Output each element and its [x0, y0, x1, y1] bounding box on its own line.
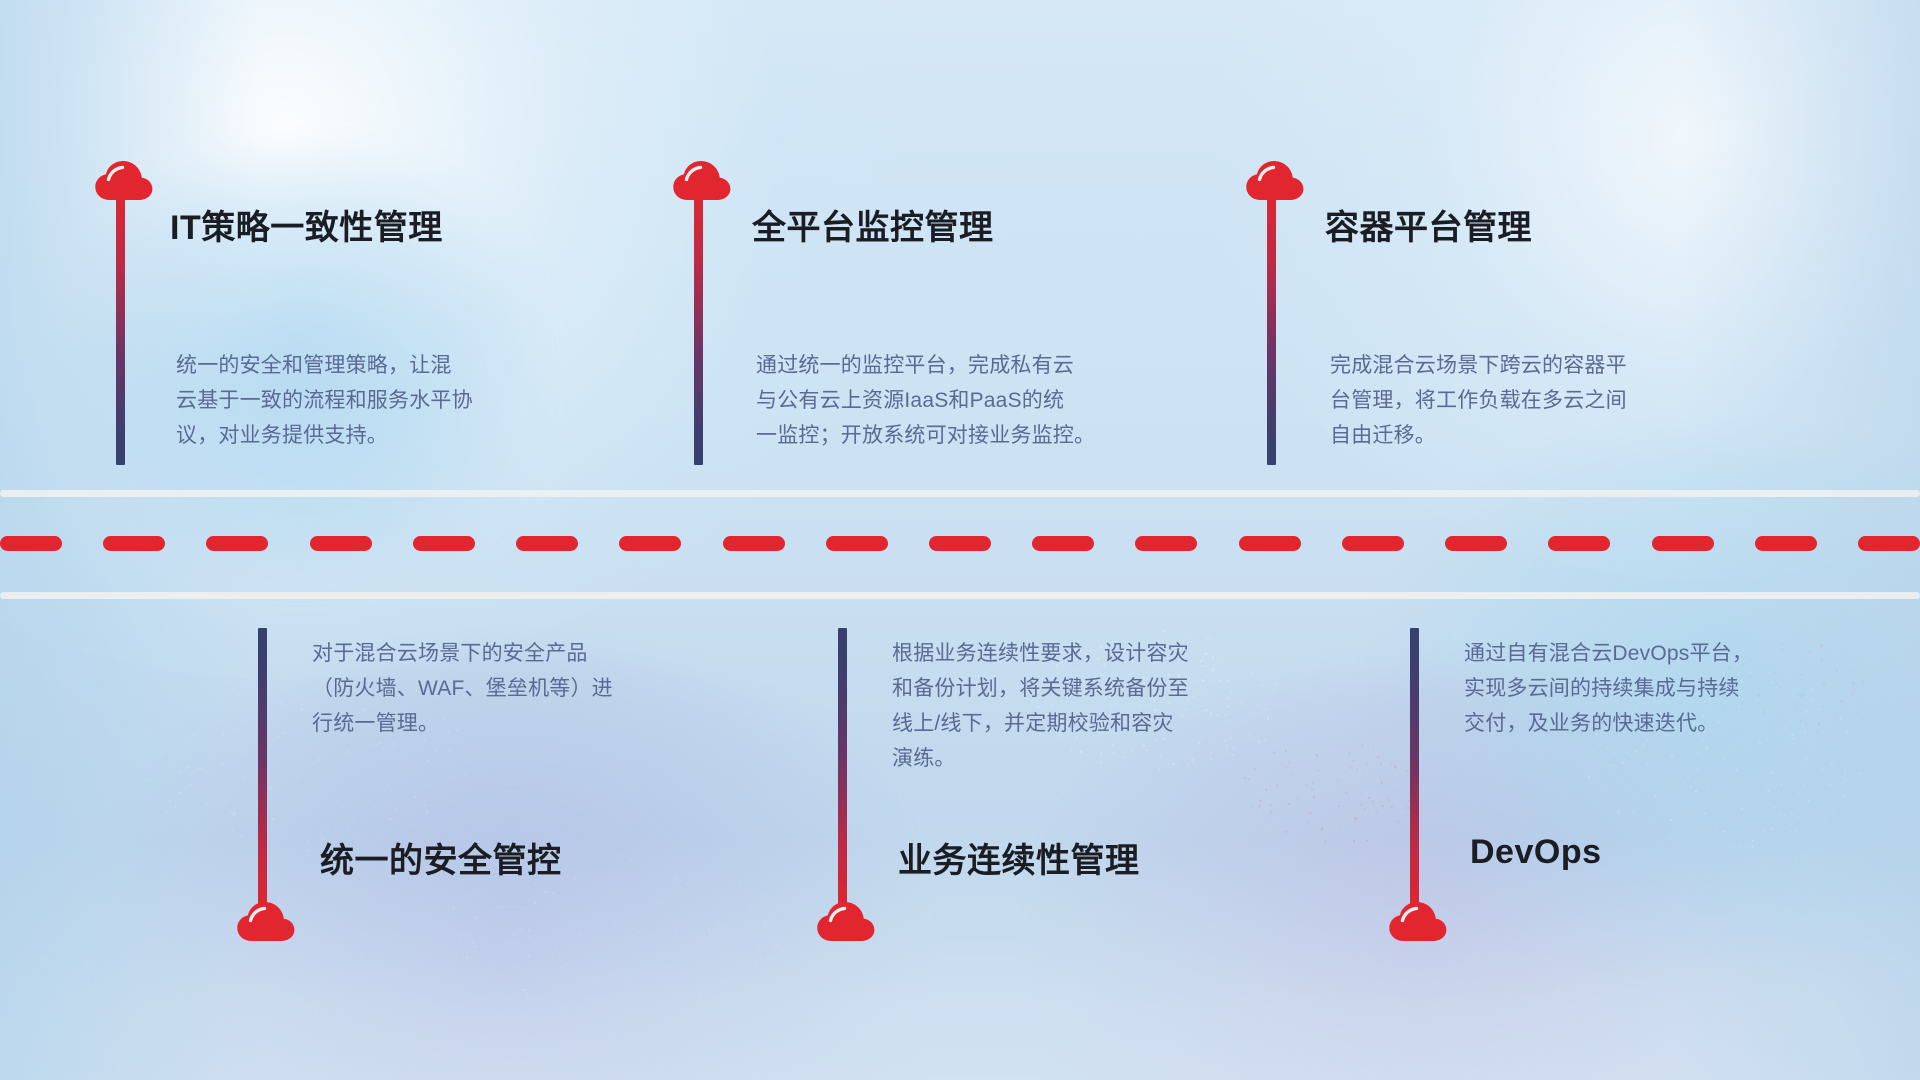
card-title: DevOps: [1470, 833, 1602, 872]
card-body: 完成混合云场景下跨云的容器平 台管理，将工作负载在多云之间 自由迁移。: [1330, 348, 1760, 453]
infographic-canvas: IT策略一致性管理 统一的安全和管理策略，让混 云基于一致的流程和服务水平协 议…: [0, 0, 1920, 1080]
card-title: 统一的安全管控: [320, 833, 562, 882]
divider-dash: [206, 536, 268, 551]
divider-dash: [516, 536, 578, 551]
card-body: 对于混合云场景下的安全产品 （防火墙、WAF、堡垒机等）进 行统一管理。: [312, 636, 732, 741]
divider-dash: [929, 536, 991, 551]
body-line: 统一的安全和管理策略，让混: [176, 348, 606, 383]
divider-dash: [1342, 536, 1404, 551]
divider-dash: [413, 536, 475, 551]
divider-dash: [1652, 536, 1714, 551]
body-line: 自由迁移。: [1330, 418, 1760, 453]
body-line: 台管理，将工作负载在多云之间: [1330, 383, 1760, 418]
card-body: 统一的安全和管理策略，让混 云基于一致的流程和服务水平协 议，对业务提供支持。: [176, 348, 606, 453]
divider-dashes: [0, 536, 1920, 551]
body-line: 云基于一致的流程和服务水平协: [176, 383, 606, 418]
cloud-icon: [1243, 155, 1309, 203]
divider-dash: [103, 536, 165, 551]
section-divider: [0, 490, 1920, 600]
body-line: 根据业务连续性要求，设计容灾: [892, 636, 1312, 671]
card-title: 业务连续性管理: [898, 833, 1140, 882]
card-title: 容器平台管理: [1325, 200, 1532, 249]
body-line: 一监控；开放系统可对接业务监控。: [756, 418, 1196, 453]
card-title: 全平台监控管理: [752, 200, 994, 249]
cloud-icon: [92, 155, 158, 203]
divider-dash: [1755, 536, 1817, 551]
body-line: 通过统一的监控平台，完成私有云: [756, 348, 1196, 383]
divider-dash: [1548, 536, 1610, 551]
divider-dash: [0, 536, 62, 551]
pin-bar: [1267, 185, 1276, 465]
card-title: IT策略一致性管理: [170, 200, 443, 249]
body-line: 完成混合云场景下跨云的容器平: [1330, 348, 1760, 383]
body-line: 议，对业务提供支持。: [176, 418, 606, 453]
body-line: 实现多云间的持续集成与持续: [1464, 671, 1884, 706]
cloud-icon: [234, 896, 300, 944]
pin-bar: [1410, 628, 1419, 918]
body-line: 通过自有混合云DevOps平台，: [1464, 636, 1884, 671]
pin-bar: [116, 185, 125, 465]
body-line: 与公有云上资源IaaS和PaaS的统: [756, 383, 1196, 418]
card-body: 根据业务连续性要求，设计容灾 和备份计划，将关键系统备份至 线上/线下，并定期校…: [892, 636, 1312, 776]
pin-bar: [694, 185, 703, 465]
card-body: 通过统一的监控平台，完成私有云 与公有云上资源IaaS和PaaS的统 一监控；开…: [756, 348, 1196, 453]
body-line: 对于混合云场景下的安全产品: [312, 636, 732, 671]
divider-dash: [826, 536, 888, 551]
pin-bar: [838, 628, 847, 918]
divider-line-top: [0, 490, 1920, 497]
divider-dash: [1135, 536, 1197, 551]
cloud-icon: [670, 155, 736, 203]
divider-dash: [1239, 536, 1301, 551]
body-line: 交付，及业务的快速迭代。: [1464, 706, 1884, 741]
body-line: 行统一管理。: [312, 706, 732, 741]
divider-dash: [310, 536, 372, 551]
divider-dash: [619, 536, 681, 551]
body-line: 和备份计划，将关键系统备份至: [892, 671, 1312, 706]
pin-bar: [258, 628, 267, 918]
body-line: 线上/线下，并定期校验和容灾: [892, 706, 1312, 741]
body-line: （防火墙、WAF、堡垒机等）进: [312, 671, 732, 706]
divider-dash: [723, 536, 785, 551]
divider-line-bottom: [0, 592, 1920, 599]
cloud-icon: [1386, 896, 1452, 944]
body-line: 演练。: [892, 741, 1312, 776]
cloud-icon: [814, 896, 880, 944]
divider-dash: [1032, 536, 1094, 551]
divider-dash: [1858, 536, 1920, 551]
divider-dash: [1445, 536, 1507, 551]
card-body: 通过自有混合云DevOps平台， 实现多云间的持续集成与持续 交付，及业务的快速…: [1464, 636, 1884, 741]
